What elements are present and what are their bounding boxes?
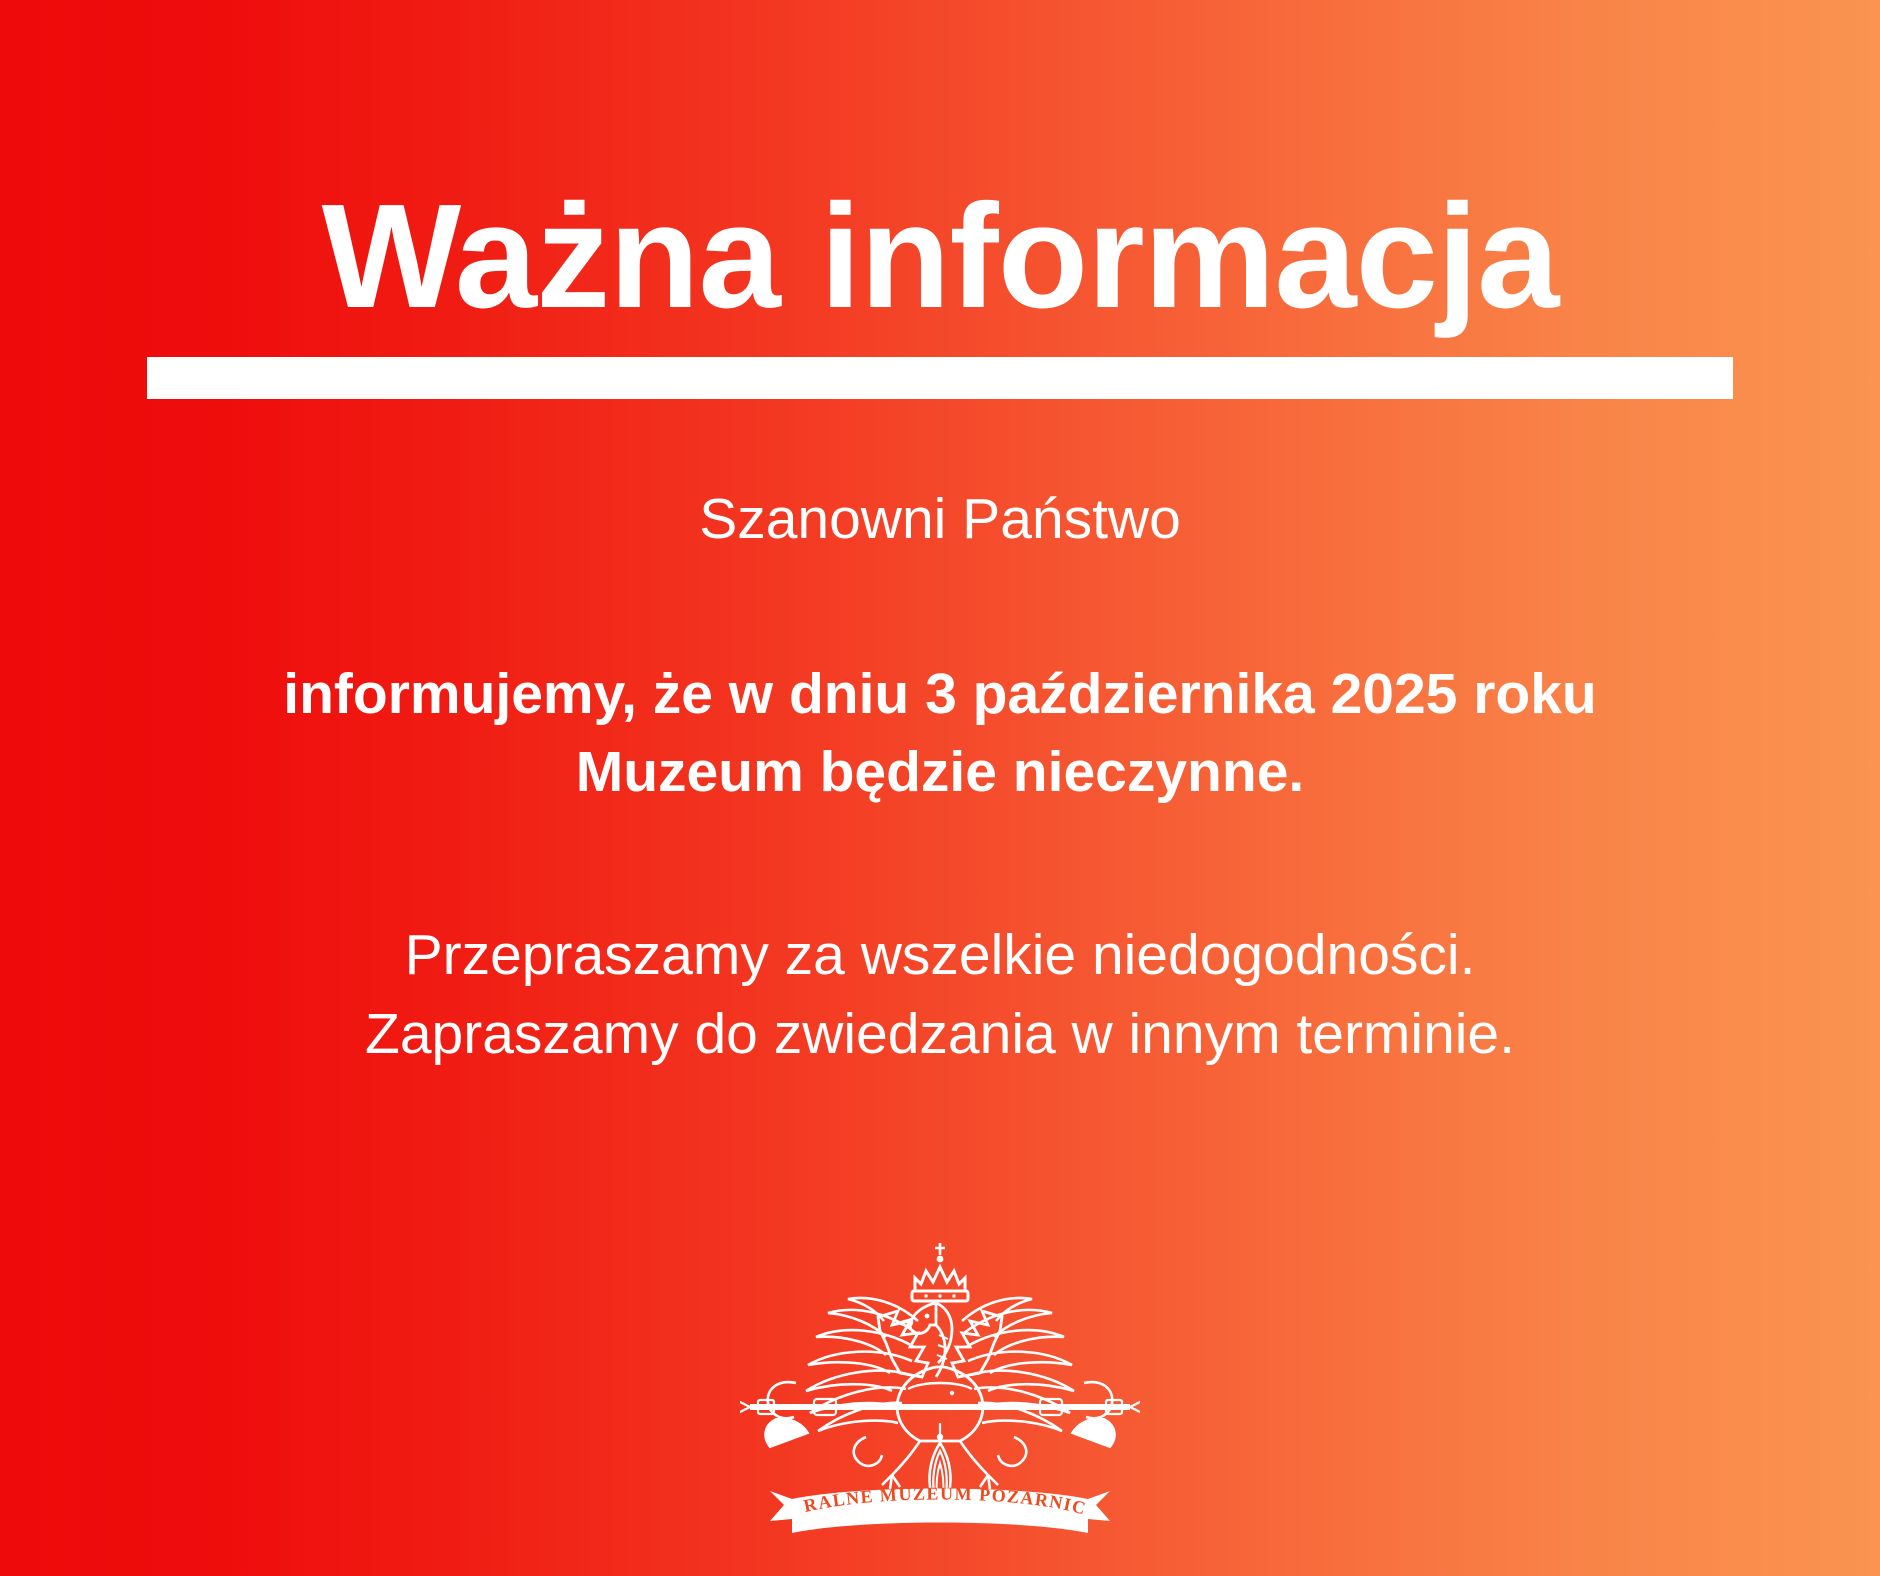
announcement-line-2: Muzeum będzie nieczynne.	[0, 733, 1880, 812]
right-wing-part	[952, 1298, 1074, 1431]
page-title: Ważna informacja	[322, 177, 1559, 337]
apology-line-1: Przepraszamy za wszelkie niedogodności.	[0, 916, 1880, 995]
apology-paragraph: Przepraszamy za wszelkie niedogodności. …	[0, 916, 1880, 1073]
left-wing-part	[806, 1298, 928, 1431]
divider-rule	[147, 357, 1733, 399]
body-copy: Szanowni Państwo informujemy, że w dniu …	[0, 480, 1880, 1073]
announcement-poster: Ważna informacja Szanowni Państwo inform…	[0, 0, 1880, 1576]
apology-line-2: Zapraszamy do zwiedzania w innym termini…	[0, 995, 1880, 1074]
announcement-paragraph: informujemy, że w dniu 3 października 20…	[0, 655, 1880, 812]
salutation-text: Szanowni Państwo	[0, 480, 1880, 559]
emblem-container: CENTRALNE MUZEUM POŻARNICTWA CENTRALNE M…	[0, 1237, 1880, 1562]
museum-emblem-icon: CENTRALNE MUZEUM POŻARNICTWA	[740, 1237, 1140, 1557]
spacer-announcement-apology	[0, 812, 1880, 916]
crown-part	[912, 1243, 968, 1301]
spacer-salutation-announcement	[0, 559, 1880, 655]
announcement-line-1: informujemy, że w dniu 3 października 20…	[0, 655, 1880, 734]
